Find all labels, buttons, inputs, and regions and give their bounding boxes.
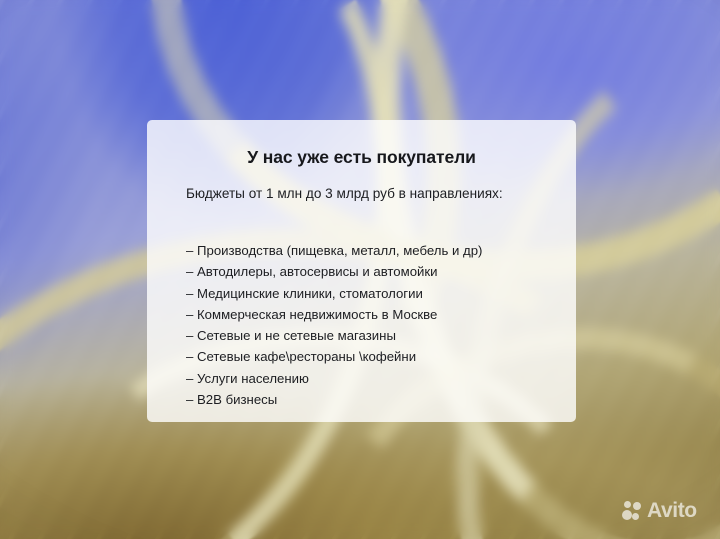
slide-image: У нас уже есть покупатели Бюджеты от 1 м… (0, 0, 720, 539)
bullet-dash: – (186, 368, 197, 389)
bullet-dash: – (186, 346, 197, 367)
content-card: У нас уже есть покупатели Бюджеты от 1 м… (147, 120, 576, 422)
list-item-label: Производства (пищевка, металл, мебель и … (197, 243, 482, 258)
list-item: –B2B бизнесы (186, 389, 556, 410)
bullet-dash: – (186, 240, 197, 261)
list-item-label: B2B бизнесы (197, 392, 277, 407)
bullet-dash: – (186, 283, 197, 304)
list-item: –Производства (пищевка, металл, мебель и… (186, 240, 556, 261)
bullet-dash: – (186, 389, 197, 410)
avito-watermark: Avito (622, 500, 697, 521)
list-item-label: Сетевые кафе\рестораны \кофейни (197, 349, 416, 364)
list-item-label: Коммерческая недвижимость в Москве (197, 307, 437, 322)
list-item-label: Автодилеры, автосервисы и автомойки (197, 264, 438, 279)
list-item: –Услуги населению (186, 368, 556, 389)
avito-wordmark: Avito (647, 500, 697, 521)
category-list: –Производства (пищевка, металл, мебель и… (186, 240, 556, 410)
bullet-dash: – (186, 304, 197, 325)
list-item-label: Услуги населению (197, 371, 309, 386)
list-item: –Автодилеры, автосервисы и автомойки (186, 261, 556, 282)
list-item: –Медицинские клиники, стоматологии (186, 283, 556, 304)
card-title: У нас уже есть покупатели (147, 147, 576, 168)
bullet-dash: – (186, 325, 197, 346)
list-item: –Сетевые и не сетевые магазины (186, 325, 556, 346)
list-item: –Коммерческая недвижимость в Москве (186, 304, 556, 325)
card-intro-text: Бюджеты от 1 млн до 3 млрд руб в направл… (186, 184, 542, 203)
bullet-dash: – (186, 261, 197, 282)
list-item-label: Медицинские клиники, стоматологии (197, 286, 423, 301)
list-item: –Сетевые кафе\рестораны \кофейни (186, 346, 556, 367)
avito-dots-icon (622, 500, 643, 521)
list-item-label: Сетевые и не сетевые магазины (197, 328, 396, 343)
